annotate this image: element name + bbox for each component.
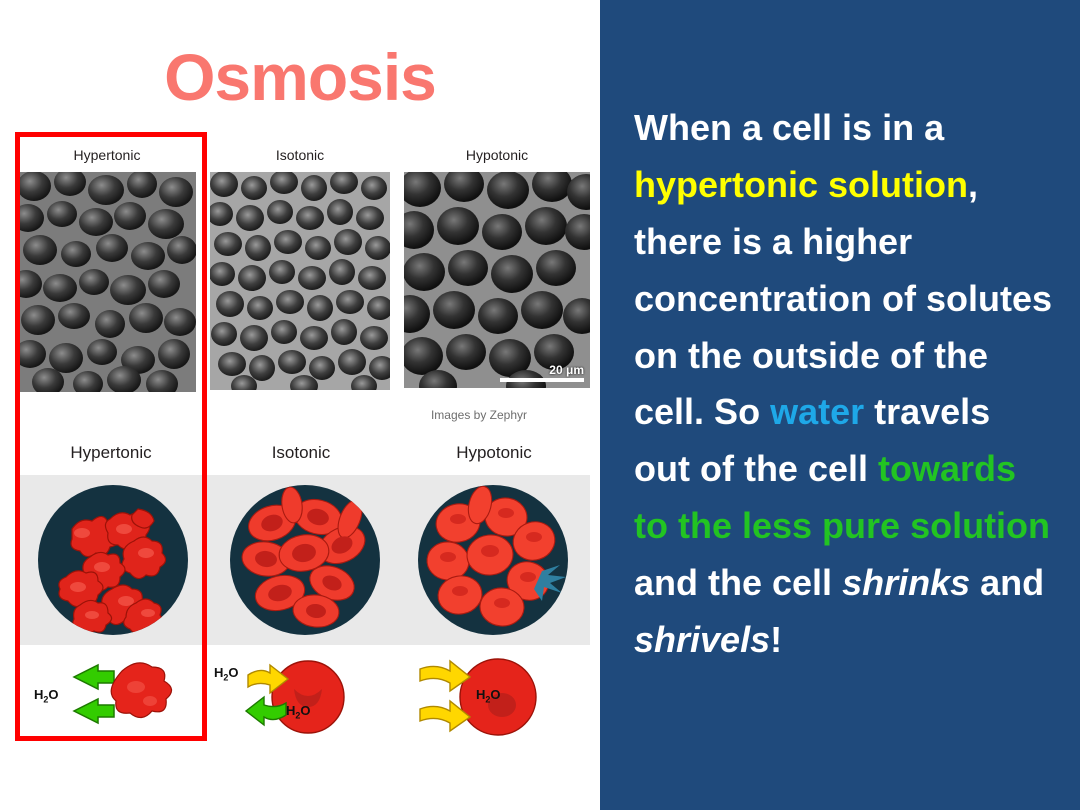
crenated-cells-svg [38,485,188,635]
body-text-segment-10: ! [770,619,782,660]
diagram-label-row: Hypertonic Isotonic Hypotonic [18,443,590,475]
h2o-label-inside: H2O [286,703,311,721]
slide-left-panel: Osmosis Hypertonic [0,0,600,810]
cell-group-isotonic [230,485,380,635]
normal-cells-svg [230,485,380,635]
scale-bar: 20 μm [500,364,584,382]
diagram-band [18,475,590,645]
micrograph-label: Hypertonic [18,142,196,172]
micrograph-label: Hypotonic [404,142,590,172]
micrograph-cells-svg [210,172,390,390]
micrograph-column-isotonic: Isotonic [210,142,390,390]
body-text-segment-3: water [770,391,864,432]
water-movement-row: H2O H2O H2O [18,653,590,741]
slide-right-panel: When a cell is in a hypertonic solution,… [600,0,1080,810]
micrograph-label: Isotonic [210,142,390,172]
swollen-cells-svg [418,485,568,635]
water-movement-hypertonic: H2O [18,653,204,741]
image-credit: Images by Zephyr [386,408,572,422]
micrograph-cells-svg [404,172,590,388]
micrograph-image-hypotonic: 20 μm [404,172,590,388]
micrograph-image-hypertonic [18,172,196,392]
micrograph-column-hypotonic: Hypotonic [404,142,590,388]
body-text-segment-6: and the cell [634,562,842,603]
diagram-label-hypertonic: Hypertonic [18,443,204,463]
body-text-segment-8: and [970,562,1044,603]
body-text-segment-7: shrinks [842,562,970,603]
water-movement-isotonic: H2O H2O [208,653,394,741]
body-text-segment-0: When a cell is in a [634,107,944,148]
scale-bar-line [500,378,584,382]
body-text: When a cell is in a hypertonic solution,… [634,100,1054,669]
micrograph-column-hypertonic: Hypertonic [18,142,196,392]
diagram-label-hypotonic: Hypotonic [398,443,590,463]
cell-group-hypertonic [38,485,188,635]
micrograph-figure: Hypertonic [18,142,590,432]
cell-group-hypotonic [418,485,568,635]
h2o-label-outside: H2O [34,687,59,705]
body-text-segment-1: hypertonic solution [634,164,968,205]
cell-diagram-figure: Hypertonic Isotonic Hypotonic [18,443,590,741]
micrograph-cells-svg [18,172,196,392]
body-text-segment-9: shrivels [634,619,770,660]
h2o-label-inside: H2O [476,687,501,705]
scale-bar-label: 20 μm [549,364,584,377]
water-movement-hypotonic: H2O [398,653,590,741]
diagram-label-isotonic: Isotonic [208,443,394,463]
micrograph-image-isotonic [210,172,390,390]
page-title: Osmosis [0,44,600,110]
h2o-label-outside: H2O [214,665,239,683]
